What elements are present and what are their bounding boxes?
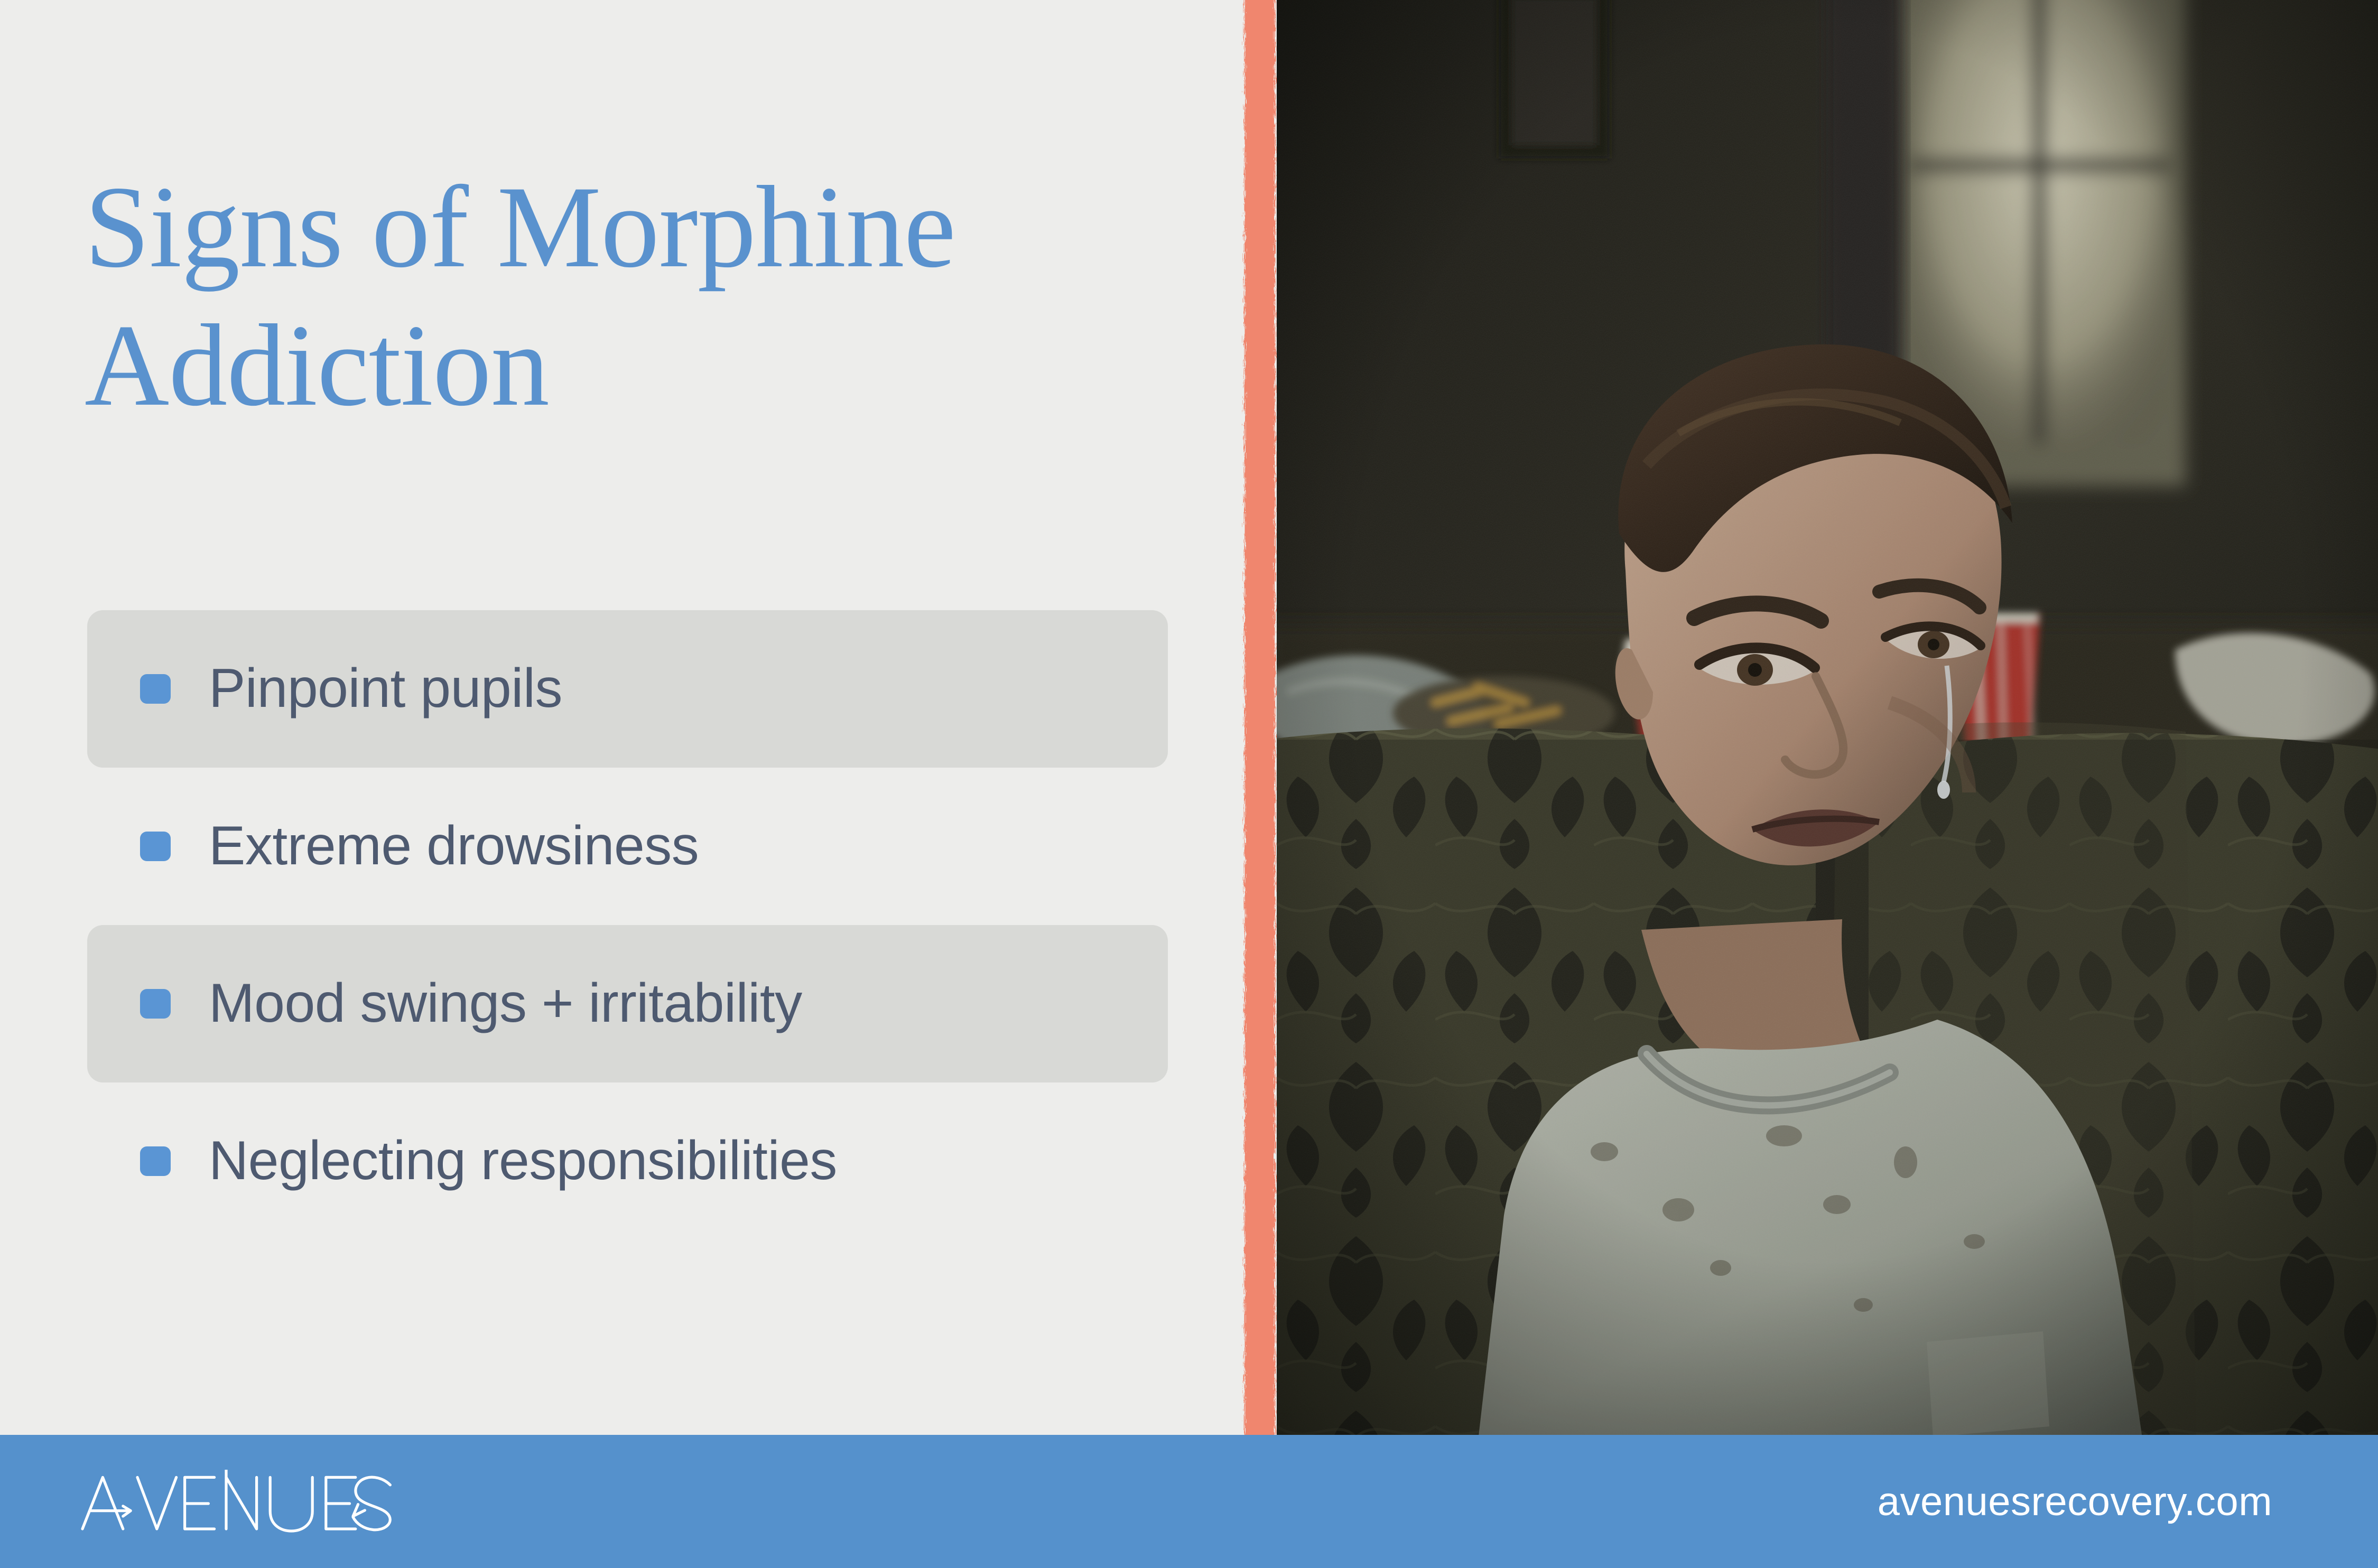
bullet-square-icon (140, 832, 171, 861)
photo-man-on-couch (1277, 0, 2378, 1435)
page-title-line-1: Signs of Morphine (85, 158, 1205, 297)
accent-divider-stripe (1239, 0, 1280, 1435)
page-title: Signs of Morphine Addiction (85, 158, 1205, 435)
list-item: Mood swings + irritability (87, 925, 1168, 1082)
bullet-square-icon (140, 989, 171, 1019)
list-item: Extreme drowsiness (87, 768, 1168, 925)
list-item: Pinpoint pupils (87, 610, 1168, 768)
website-url[interactable]: avenuesrecovery.com (1878, 1479, 2272, 1525)
left-content-panel: Signs of Morphine Addiction Pinpoint pup… (0, 0, 1247, 1435)
bullet-square-icon (140, 674, 171, 704)
bullet-square-icon (140, 1146, 171, 1176)
list-item-label: Neglecting responsibilities (209, 1132, 837, 1190)
list-item-label: Mood swings + irritability (209, 975, 802, 1032)
list-item-label: Extreme drowsiness (209, 817, 699, 875)
list-item: Neglecting responsibilities (87, 1082, 1168, 1240)
footer-bar: avenuesrecovery.com (0, 1435, 2378, 1568)
avenues-logo[interactable] (74, 1464, 395, 1538)
list-item-label: Pinpoint pupils (209, 660, 562, 717)
infographic-card: Signs of Morphine Addiction Pinpoint pup… (0, 0, 2378, 1568)
page-title-line-2: Addiction (85, 297, 1205, 435)
signs-list: Pinpoint pupils Extreme drowsiness Mood … (87, 610, 1168, 1240)
